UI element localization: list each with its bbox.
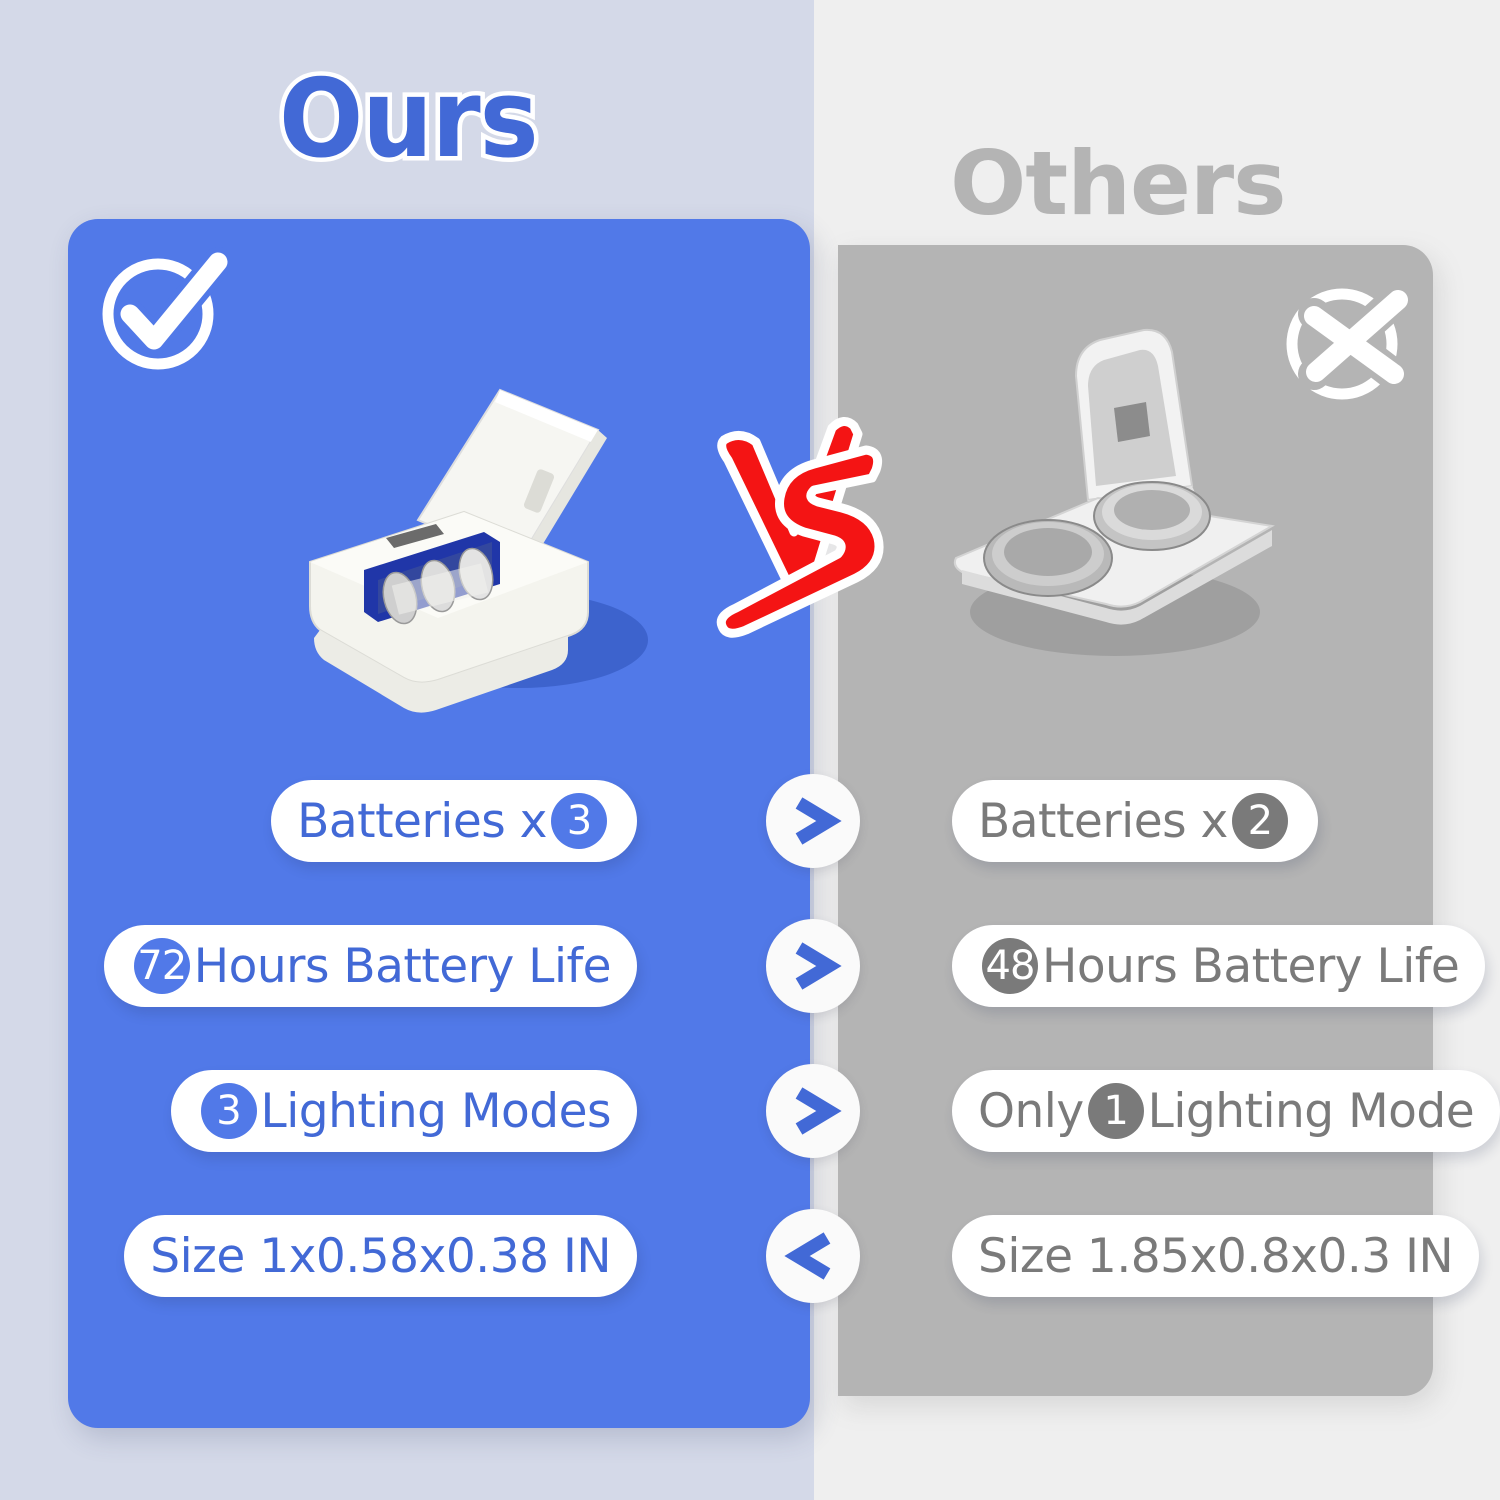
vs-badge-icon [706, 412, 896, 652]
others-feature-pill[interactable]: Only 1 Lighting Mode [952, 1070, 1500, 1152]
ours-feature-pill[interactable]: Size 1x0.58x0.38 IN [124, 1215, 637, 1297]
ours-feature-pill[interactable]: 3 Lighting Modes [171, 1070, 637, 1152]
ours-feature-badge: 3 [551, 793, 607, 849]
ours-feature-pre: Size 1x0.58x0.38 IN [150, 1233, 611, 1280]
feature-row: 3 Lighting Modes Only 1 Lighting Mode [0, 1070, 1500, 1170]
ours-title: Ours [279, 66, 538, 174]
feature-row: Size 1x0.58x0.38 IN Size 1.85x0.8x0.3 IN [0, 1215, 1500, 1315]
others-feature-badge: 1 [1088, 1083, 1144, 1139]
greater-than-icon [766, 774, 860, 868]
others-feature-pre: Only [978, 1088, 1084, 1135]
less-than-icon [766, 1209, 860, 1303]
others-feature-post: Hours Battery Life [1042, 943, 1459, 990]
ours-feature-badge: 3 [201, 1083, 257, 1139]
ours-feature-post: Hours Battery Life [194, 943, 611, 990]
feature-row: Batteries x 3 Batteries x 2 [0, 780, 1500, 880]
feature-rows: Batteries x 3 Batteries x 2 72 Hours Bat… [0, 780, 1500, 1340]
others-feature-pre: Batteries x [978, 798, 1228, 845]
ours-feature-pre: Batteries x [297, 798, 547, 845]
ours-feature-badge: 72 [134, 938, 190, 994]
ours-product-image [268, 330, 668, 740]
others-feature-badge: 2 [1232, 793, 1288, 849]
others-feature-pill[interactable]: Size 1.85x0.8x0.3 IN [952, 1215, 1479, 1297]
ours-feature-post: Lighting Modes [261, 1088, 611, 1135]
others-feature-pill[interactable]: Batteries x 2 [952, 780, 1318, 862]
others-feature-post: Lighting Mode [1148, 1088, 1474, 1135]
ours-feature-pill[interactable]: 72 Hours Battery Life [104, 925, 637, 1007]
greater-than-icon [766, 919, 860, 1013]
others-feature-pre: Size 1.85x0.8x0.3 IN [978, 1233, 1453, 1280]
check-circle-icon [96, 244, 228, 376]
feature-row: 72 Hours Battery Life 48 Hours Battery L… [0, 925, 1500, 1025]
others-feature-pill[interactable]: 48 Hours Battery Life [952, 925, 1485, 1007]
comparison-infographic: Ours Others [0, 0, 1500, 1500]
ours-feature-pill[interactable]: Batteries x 3 [271, 780, 637, 862]
others-title: Others [950, 140, 1286, 228]
others-product-image [900, 290, 1330, 710]
others-feature-badge: 48 [982, 938, 1038, 994]
greater-than-icon [766, 1064, 860, 1158]
